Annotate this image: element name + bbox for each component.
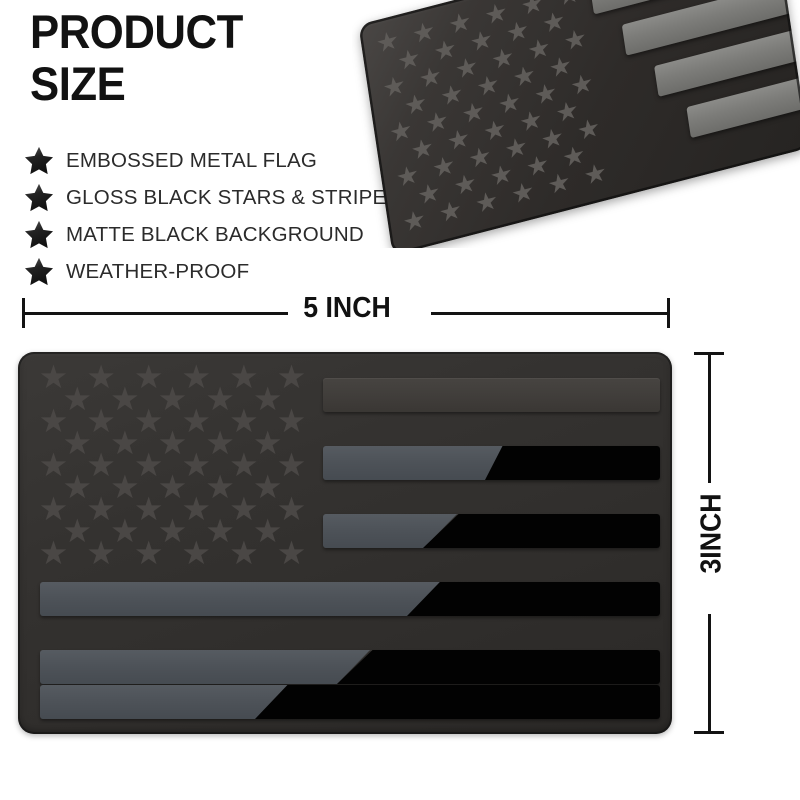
dimension-line-right: [431, 312, 668, 315]
canton-star: [254, 474, 281, 500]
canton-star: [88, 540, 115, 566]
dimension-line-top: [708, 354, 711, 483]
photo-canton-star: [411, 137, 434, 162]
photo-canton-star: [542, 10, 565, 35]
product-plate-perspective: [358, 0, 800, 248]
stripe-black-segment: [337, 650, 660, 684]
canton-star: [40, 408, 67, 434]
photo-canton-star: [557, 0, 580, 8]
photo-canton-star: [417, 181, 440, 206]
photo-canton-star: [396, 164, 419, 189]
canton-star: [207, 386, 234, 412]
canton-star: [230, 496, 257, 522]
photo-canton-star: [470, 28, 493, 53]
canton-star: [254, 430, 281, 456]
canton-star: [207, 518, 234, 544]
height-dimension: 3INCH: [694, 352, 730, 734]
flag-stripe-4: [40, 582, 660, 616]
canton-star: [111, 386, 138, 412]
list-item: WEATHER-PROOF: [24, 253, 464, 290]
photo-canton-star: [549, 54, 572, 79]
canton-star: [64, 518, 91, 544]
canton-star: [230, 540, 257, 566]
photo-canton-star: [475, 190, 498, 215]
photo-canton-star: [447, 127, 470, 152]
star-icon: [24, 257, 54, 286]
photo-canton-star: [526, 153, 549, 178]
canton-star: [278, 540, 305, 566]
photo-canton-star: [584, 162, 607, 187]
height-label: 3INCH: [696, 479, 729, 588]
canton-star: [278, 364, 305, 390]
canton-star: [278, 496, 305, 522]
canton-star: [183, 452, 210, 478]
photo-canton-star: [556, 99, 579, 124]
flag-stripe-6: [40, 685, 660, 719]
stripe-black-segment: [485, 446, 660, 480]
stripe-black-segment: [407, 582, 660, 616]
canton-star: [64, 474, 91, 500]
canton-star: [88, 408, 115, 434]
photo-canton-star: [527, 37, 550, 62]
photo-canton-star: [476, 73, 499, 98]
photo-canton-star: [440, 83, 463, 108]
canton-star: [40, 364, 67, 390]
photo-canton-star: [455, 55, 478, 80]
photo-canton-star: [577, 117, 600, 142]
product-size-infographic: PRODUCT SIZE EMBOSSED METAL FLAG GLOSS B…: [0, 0, 800, 800]
photo-canton-star: [570, 72, 593, 97]
photo-canton-star: [547, 171, 570, 196]
photo-canton-star: [434, 38, 457, 63]
photo-canton-star: [491, 46, 514, 71]
canton-star: [230, 408, 257, 434]
canton-star: [230, 364, 257, 390]
photo-canton-star: [564, 27, 587, 52]
list-item-label: GLOSS BLACK STARS & STRIPES: [66, 186, 400, 210]
photo-canton-star: [490, 163, 513, 188]
flag-stripe-5: [40, 650, 660, 684]
stripe-gray-segment: [40, 582, 440, 616]
photo-canton-star: [462, 100, 485, 125]
canton-star: [40, 452, 67, 478]
product-photo-angled: [352, 0, 800, 248]
flag-stripe-2: [323, 446, 660, 480]
stripe-black-segment: [423, 514, 660, 548]
canton-star: [207, 474, 234, 500]
photo-canton-star: [505, 136, 528, 161]
stripe-black-segment: [255, 685, 660, 719]
photo-canton-star: [506, 19, 529, 44]
photo-canton-star: [485, 1, 508, 26]
page-title-line2: SIZE: [30, 58, 337, 110]
canton-star: [64, 386, 91, 412]
star-icon: [24, 183, 54, 212]
stripe-gray-segment: [40, 685, 288, 719]
canton-star: [278, 452, 305, 478]
photo-canton-star: [425, 110, 448, 135]
list-item-label: EMBOSSED METAL FLAG: [66, 149, 317, 173]
canton-star: [230, 452, 257, 478]
width-dimension: 5 INCH: [22, 298, 670, 334]
photo-canton-star: [513, 64, 536, 89]
photo-canton-star: [468, 145, 491, 170]
photo-canton-star: [519, 109, 542, 134]
canton-star: [207, 430, 234, 456]
product-flag-plate: [18, 352, 672, 734]
page-title: PRODUCT SIZE: [30, 6, 337, 110]
star-icon: [24, 146, 54, 175]
canton-star: [135, 408, 162, 434]
photo-canton-star: [404, 92, 427, 117]
canton-star: [159, 430, 186, 456]
list-item-label: WEATHER-PROOF: [66, 260, 249, 284]
canton-star: [159, 518, 186, 544]
page-title-line1: PRODUCT: [30, 6, 337, 58]
canton-star: [159, 386, 186, 412]
photo-canton-star: [419, 65, 442, 90]
dimension-line-left: [24, 312, 288, 315]
canton-star: [88, 364, 115, 390]
canton-star: [183, 364, 210, 390]
star-field-canton: [40, 364, 305, 566]
canton-star: [254, 386, 281, 412]
photo-canton-star: [376, 29, 399, 54]
canton-star: [278, 408, 305, 434]
canton-star: [183, 408, 210, 434]
photo-canton-star: [498, 91, 521, 116]
canton-star: [159, 474, 186, 500]
list-item-label: MATTE BLACK BACKGROUND: [66, 223, 364, 247]
photo-canton-star: [483, 118, 506, 143]
canton-star: [135, 364, 162, 390]
photo-canton-star: [454, 172, 477, 197]
photo-canton-star: [448, 11, 471, 36]
photo-star-field: [376, 0, 607, 234]
photo-canton-star: [432, 154, 455, 179]
photo-canton-star: [534, 82, 557, 107]
canton-star: [111, 474, 138, 500]
photo-canton-star: [511, 180, 534, 205]
canton-star: [40, 496, 67, 522]
canton-star: [111, 518, 138, 544]
canton-star: [135, 496, 162, 522]
canton-star: [183, 540, 210, 566]
canton-star: [64, 430, 91, 456]
canton-star: [135, 540, 162, 566]
photo-canton-star: [541, 126, 564, 151]
canton-star: [111, 430, 138, 456]
canton-star: [40, 540, 67, 566]
photo-canton-star: [439, 199, 462, 224]
dimension-line-bottom: [708, 614, 711, 732]
canton-star: [88, 496, 115, 522]
flag-stripe-3: [323, 514, 660, 548]
canton-star: [183, 496, 210, 522]
photo-canton-star: [521, 0, 544, 17]
photo-canton-star: [403, 208, 426, 233]
photo-canton-star: [562, 144, 585, 169]
photo-canton-star: [412, 20, 435, 45]
flag-stripe-1: [323, 378, 660, 412]
photo-canton-star: [397, 47, 420, 72]
stripe-gray-segment: [40, 650, 370, 684]
star-icon: [24, 220, 54, 249]
photo-canton-star: [389, 119, 412, 144]
photo-canton-star: [383, 74, 406, 99]
canton-star: [135, 452, 162, 478]
canton-star: [88, 452, 115, 478]
canton-star: [254, 518, 281, 544]
width-label: 5 INCH: [296, 292, 397, 325]
